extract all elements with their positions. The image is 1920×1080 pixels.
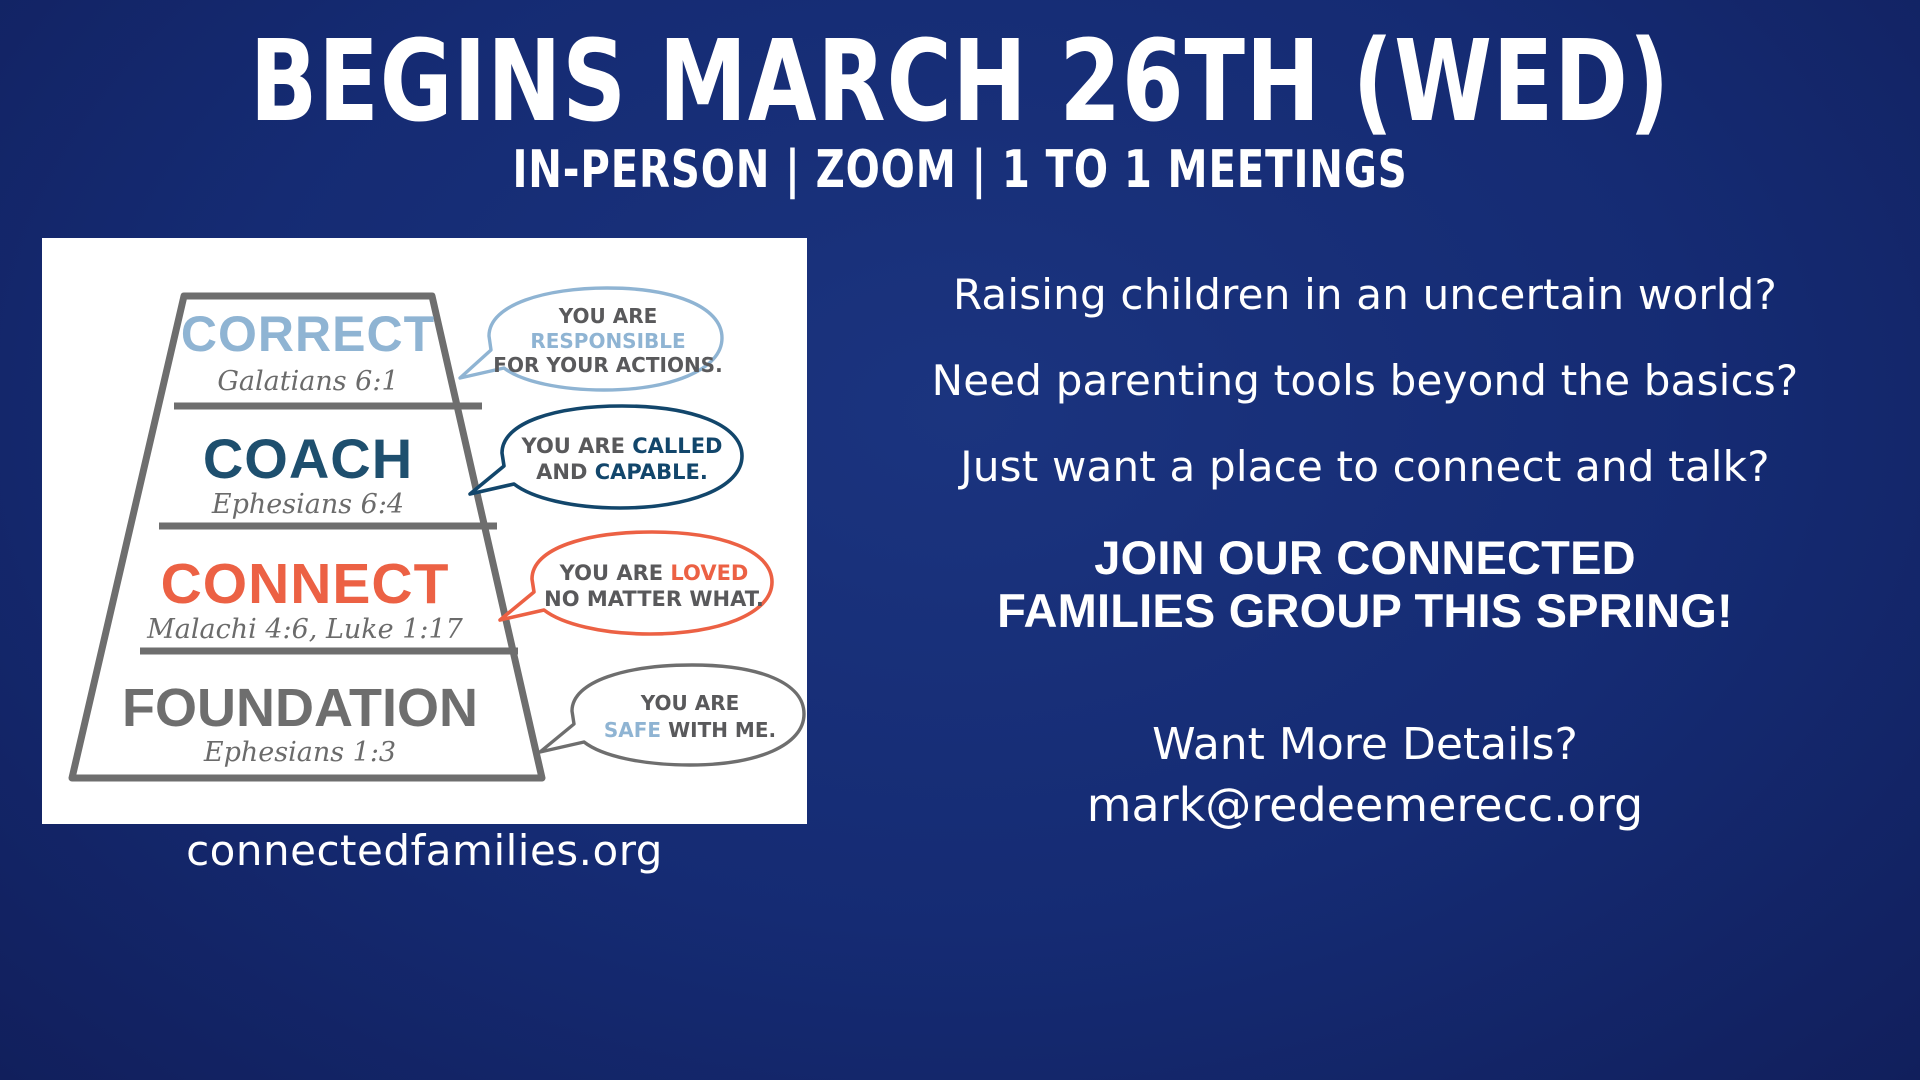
- bubble-line2-plain-foundation: WITH ME.: [661, 718, 776, 742]
- slide-header: BEGINS MARCH 26TH (WED) IN-PERSON | ZOOM…: [0, 0, 1920, 196]
- bubble-line2-connect: NO MATTER WHAT.: [544, 587, 764, 611]
- tier-reference-coach: Ephesians 6:4: [211, 489, 404, 520]
- site-url[interactable]: connectedfamilies.org: [42, 826, 807, 875]
- pyramid-diagram: CORRECT Galatians 6:1 COACH Ephesians 6:…: [42, 238, 807, 824]
- call-to-action: JOIN OUR CONNECTED FAMILIES GROUP THIS S…: [830, 532, 1900, 637]
- tier-title-correct: CORRECT: [181, 306, 435, 362]
- tier-reference-connect: Malachi 4:6, Luke 1:17: [146, 614, 464, 645]
- bubble-shape-foundation: [540, 665, 804, 765]
- tier-title-coach: COACH: [203, 427, 413, 490]
- headline: BEGINS MARCH 26TH (WED): [115, 0, 1805, 138]
- bubble-line2-accent-foundation: SAFE: [604, 718, 661, 742]
- promo-slide: BEGINS MARCH 26TH (WED) IN-PERSON | ZOOM…: [0, 0, 1920, 1080]
- question-1: Raising children in an uncertain world?: [830, 274, 1900, 316]
- bubble-line1-foundation: YOU ARE: [640, 691, 740, 715]
- subheadline: IN-PERSON | ZOOM | 1 TO 1 MEETINGS: [134, 138, 1785, 196]
- tier-title-foundation: FOUNDATION: [122, 678, 478, 738]
- bubble-line2-plain-coach: AND: [536, 460, 595, 484]
- bubble-line1-plain-connect: YOU ARE: [559, 561, 671, 585]
- tier-reference-correct: Galatians 6:1: [217, 366, 398, 397]
- speech-bubble-connect: YOU ARE LOVED NO MATTER WHAT.: [500, 532, 772, 634]
- bubble-line1-correct: YOU ARE: [558, 304, 658, 328]
- details-label: Want More Details?: [830, 721, 1900, 769]
- bubble-line2-correct: RESPONSIBLE: [530, 329, 685, 353]
- bubble-line2-coach: AND CAPABLE.: [536, 460, 708, 484]
- bubble-line1-plain-coach: YOU ARE: [521, 434, 633, 458]
- bubble-line1-coach: YOU ARE CALLED: [521, 434, 723, 458]
- speech-bubble-correct: YOU ARE RESPONSIBLE FOR YOUR ACTIONS.: [460, 288, 723, 390]
- cta-line-1: JOIN OUR CONNECTED: [830, 532, 1900, 585]
- bubble-line1-accent-connect: LOVED: [670, 561, 748, 585]
- speech-bubble-foundation: YOU ARE SAFE WITH ME.: [540, 665, 804, 765]
- question-2: Need parenting tools beyond the basics?: [830, 360, 1900, 402]
- framework-diagram-card: CORRECT Galatians 6:1 COACH Ephesians 6:…: [42, 238, 807, 824]
- question-3: Just want a place to connect and talk?: [830, 446, 1900, 488]
- contact-email[interactable]: mark@redeemerecc.org: [830, 780, 1900, 831]
- tier-title-connect: CONNECT: [161, 552, 450, 616]
- right-column: Raising children in an uncertain world? …: [830, 262, 1900, 830]
- bubble-line2-accent-coach: CAPABLE.: [595, 460, 708, 484]
- bubble-line2-foundation: SAFE WITH ME.: [604, 718, 776, 742]
- cta-line-2: FAMILIES GROUP THIS SPRING!: [830, 585, 1900, 638]
- bubble-line1-accent-coach: CALLED: [632, 434, 722, 458]
- tier-reference-foundation: Ephesians 1:3: [203, 737, 396, 768]
- bubble-line3-correct: FOR YOUR ACTIONS.: [493, 353, 722, 377]
- speech-bubble-coach: YOU ARE CALLED AND CAPABLE.: [470, 406, 742, 508]
- bubble-line1-connect: YOU ARE LOVED: [559, 561, 749, 585]
